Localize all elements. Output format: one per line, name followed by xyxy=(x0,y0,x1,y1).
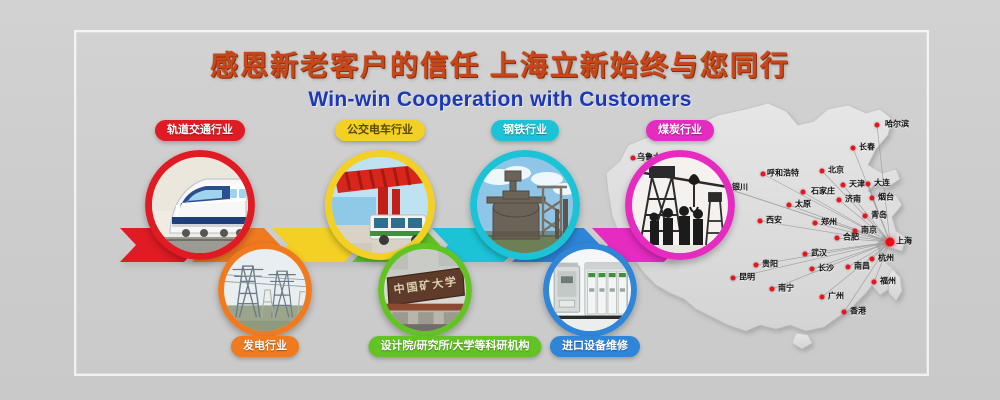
map-city-dot[interactable] xyxy=(870,196,875,201)
map-city-dot[interactable] xyxy=(870,257,875,262)
map-city-label[interactable]: 太原 xyxy=(795,199,811,210)
train-icon xyxy=(152,157,248,253)
industry-circle-power[interactable] xyxy=(218,243,312,337)
industry-label-steel[interactable]: 钢铁行业 xyxy=(491,120,559,141)
map-city-label[interactable]: 香港 xyxy=(850,306,866,317)
industry-circle-switchgear[interactable] xyxy=(543,243,637,337)
svg-text:中: 中 xyxy=(393,281,406,296)
switchgear-icon xyxy=(549,249,631,331)
university-icon: 中 国 矿 大 学 xyxy=(384,249,466,331)
map-city-label[interactable]: 青岛 xyxy=(871,210,887,221)
map-city-dot[interactable] xyxy=(731,276,736,281)
page-title-cn: 感恩新老客户的信任 上海立新始终与您同行 xyxy=(0,44,1000,84)
map-city-dot[interactable] xyxy=(761,172,766,177)
map-city-label[interactable]: 合肥 xyxy=(843,232,859,243)
map-city-dot[interactable] xyxy=(787,203,792,208)
map-city-dot[interactable] xyxy=(820,169,825,174)
map-city-label[interactable]: 武汉 xyxy=(811,248,827,259)
map-city-dot[interactable] xyxy=(803,252,808,257)
map-city-label[interactable]: 济南 xyxy=(845,194,861,205)
industry-label-bus[interactable]: 公交电车行业 xyxy=(335,120,425,141)
industry-circle-coal[interactable] xyxy=(625,150,735,260)
map-city-label[interactable]: 银川 xyxy=(732,182,748,193)
map-city-dot[interactable] xyxy=(754,263,759,268)
map-city-label[interactable]: 南昌 xyxy=(854,261,870,272)
map-city-label[interactable]: 哈尔滨 xyxy=(885,119,909,130)
steel-mill-icon xyxy=(477,157,573,253)
map-city-dot[interactable] xyxy=(813,221,818,226)
industry-label-rail[interactable]: 轨道交通行业 xyxy=(155,120,245,141)
map-city-dot[interactable] xyxy=(875,123,880,128)
bus-icon xyxy=(332,157,428,253)
map-city-label[interactable]: 西安 xyxy=(766,215,782,226)
map-city-dot[interactable] xyxy=(835,236,840,241)
map-city-label[interactable]: 石家庄 xyxy=(811,186,835,197)
map-city-label[interactable]: 郑州 xyxy=(821,217,837,228)
map-city-dot[interactable] xyxy=(837,198,842,203)
industry-label-coal[interactable]: 煤炭行业 xyxy=(646,120,714,141)
industry-circle-steel[interactable] xyxy=(470,150,580,260)
power-grid-icon xyxy=(224,249,306,331)
page-title-en: Win-win Cooperation with Customers xyxy=(0,88,1000,112)
map-city-label[interactable]: 昆明 xyxy=(739,272,755,283)
coal-mine-icon xyxy=(632,157,728,253)
industry-label-university[interactable]: 设计院/研究所/大学等科研机构 xyxy=(368,336,541,357)
map-city-label[interactable]: 福州 xyxy=(880,276,896,287)
map-city-dot[interactable] xyxy=(770,287,775,292)
map-city-label[interactable]: 大连 xyxy=(874,178,890,189)
map-city-dot[interactable] xyxy=(820,295,825,300)
map-city-dot[interactable] xyxy=(801,190,806,195)
svg-text:学: 学 xyxy=(444,274,457,289)
map-city-dot[interactable] xyxy=(842,310,847,315)
industry-circle-rail[interactable] xyxy=(145,150,255,260)
map-city-dot[interactable] xyxy=(758,219,763,224)
industry-label-switchgear[interactable]: 进口设备维修 xyxy=(550,336,640,357)
map-city-label[interactable]: 南京 xyxy=(861,225,877,236)
map-city-dot[interactable] xyxy=(841,183,846,188)
map-city-dot[interactable] xyxy=(872,280,877,285)
map-city-label[interactable]: 广州 xyxy=(828,291,844,302)
map-city-dot[interactable] xyxy=(810,267,815,272)
map-city-label[interactable]: 长春 xyxy=(859,142,875,153)
svg-text:国: 国 xyxy=(406,280,419,294)
map-city-label[interactable]: 南宁 xyxy=(778,283,794,294)
banner-canvas: 哈尔滨长春乌鲁木齐呼和浩特北京天津大连银川石家庄济南烟台太原青岛西安郑州合肥南京… xyxy=(0,0,1000,400)
banner-titles: 感恩新老客户的信任 上海立新始终与您同行 Win-win Cooperation… xyxy=(0,44,1000,112)
map-city-label[interactable]: 呼和浩特 xyxy=(767,168,799,179)
map-city-label[interactable]: 烟台 xyxy=(878,192,894,203)
svg-text:矿: 矿 xyxy=(418,278,431,293)
map-city-dot[interactable] xyxy=(886,238,895,247)
industry-label-power[interactable]: 发电行业 xyxy=(231,336,299,357)
map-city-dot[interactable] xyxy=(631,156,636,161)
map-city-label[interactable]: 长沙 xyxy=(818,263,834,274)
map-city-label[interactable]: 杭州 xyxy=(878,253,894,264)
industry-circle-university[interactable]: 中 国 矿 大 学 xyxy=(378,243,472,337)
map-city-label[interactable]: 天津 xyxy=(849,179,865,190)
map-city-label[interactable]: 北京 xyxy=(828,165,844,176)
map-city-label[interactable]: 上海 xyxy=(896,236,912,247)
map-city-dot[interactable] xyxy=(851,146,856,151)
map-city-dot[interactable] xyxy=(863,214,868,219)
map-city-label[interactable]: 贵阳 xyxy=(762,259,778,270)
map-city-dot[interactable] xyxy=(853,229,858,234)
map-city-dot[interactable] xyxy=(866,182,871,187)
map-city-dot[interactable] xyxy=(846,265,851,270)
